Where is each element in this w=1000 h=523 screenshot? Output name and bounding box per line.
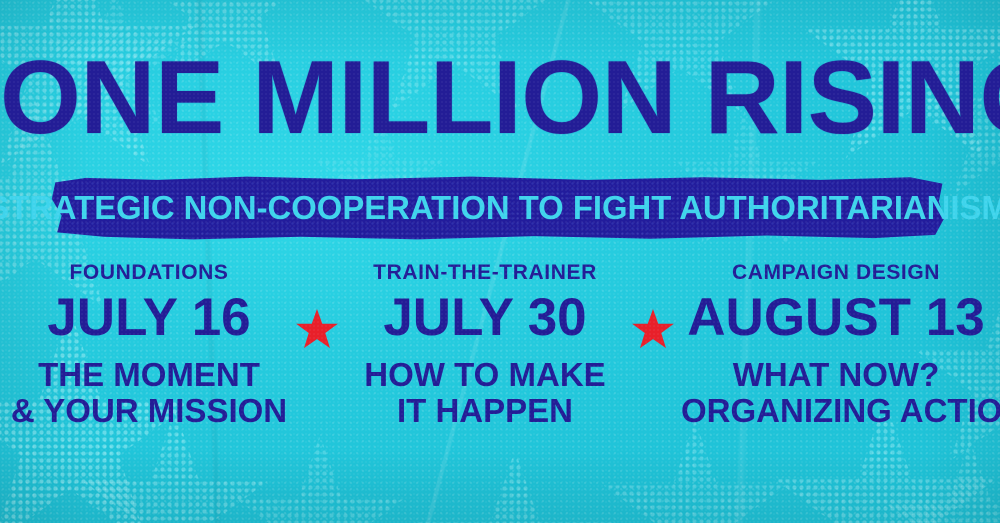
session-description-line-2: & YOUR MISSION [9, 393, 289, 429]
session-description-line-1: HOW TO MAKE [345, 357, 625, 393]
session-separator-1 [289, 262, 345, 350]
session-description: THE MOMENT & YOUR MISSION [9, 357, 289, 428]
session-description-line-2: IT HAPPEN [345, 393, 625, 429]
session-kicker: TRAIN-THE-TRAINER [345, 262, 625, 283]
star-icon [295, 308, 339, 350]
session-item-train-the-trainer: TRAIN-THE-TRAINER JULY 30 HOW TO MAKE IT… [345, 262, 625, 428]
poster-content: ONE MILLION RISING STRATEGIC NON-COOPERA… [0, 0, 1000, 523]
promotional-poster: ONE MILLION RISING STRATEGIC NON-COOPERA… [0, 0, 1000, 523]
session-date: JULY 16 [9, 290, 289, 345]
session-item-foundations: FOUNDATIONS JULY 16 THE MOMENT & YOUR MI… [9, 262, 289, 428]
session-separator-2 [625, 262, 681, 350]
subtitle-banner-label: STRATEGIC NON-COOPERATION TO FIGHT AUTHO… [52, 176, 944, 240]
session-item-campaign-design: CAMPAIGN DESIGN AUGUST 13 WHAT NOW? ORGA… [681, 262, 991, 428]
session-date: AUGUST 13 [681, 290, 991, 345]
page-title: ONE MILLION RISING [0, 46, 1000, 150]
session-description-line-2: ORGANIZING ACTION [681, 393, 991, 429]
session-kicker: CAMPAIGN DESIGN [681, 262, 991, 283]
star-icon [631, 308, 675, 350]
session-description-line-1: THE MOMENT [9, 357, 289, 393]
session-description: HOW TO MAKE IT HAPPEN [345, 357, 625, 428]
session-description-line-1: WHAT NOW? [681, 357, 991, 393]
session-description: WHAT NOW? ORGANIZING ACTION [681, 357, 991, 428]
subtitle-banner: STRATEGIC NON-COOPERATION TO FIGHT AUTHO… [50, 176, 946, 240]
session-kicker: FOUNDATIONS [9, 262, 289, 283]
session-list: FOUNDATIONS JULY 16 THE MOMENT & YOUR MI… [0, 262, 1000, 472]
session-date: JULY 30 [345, 290, 625, 345]
